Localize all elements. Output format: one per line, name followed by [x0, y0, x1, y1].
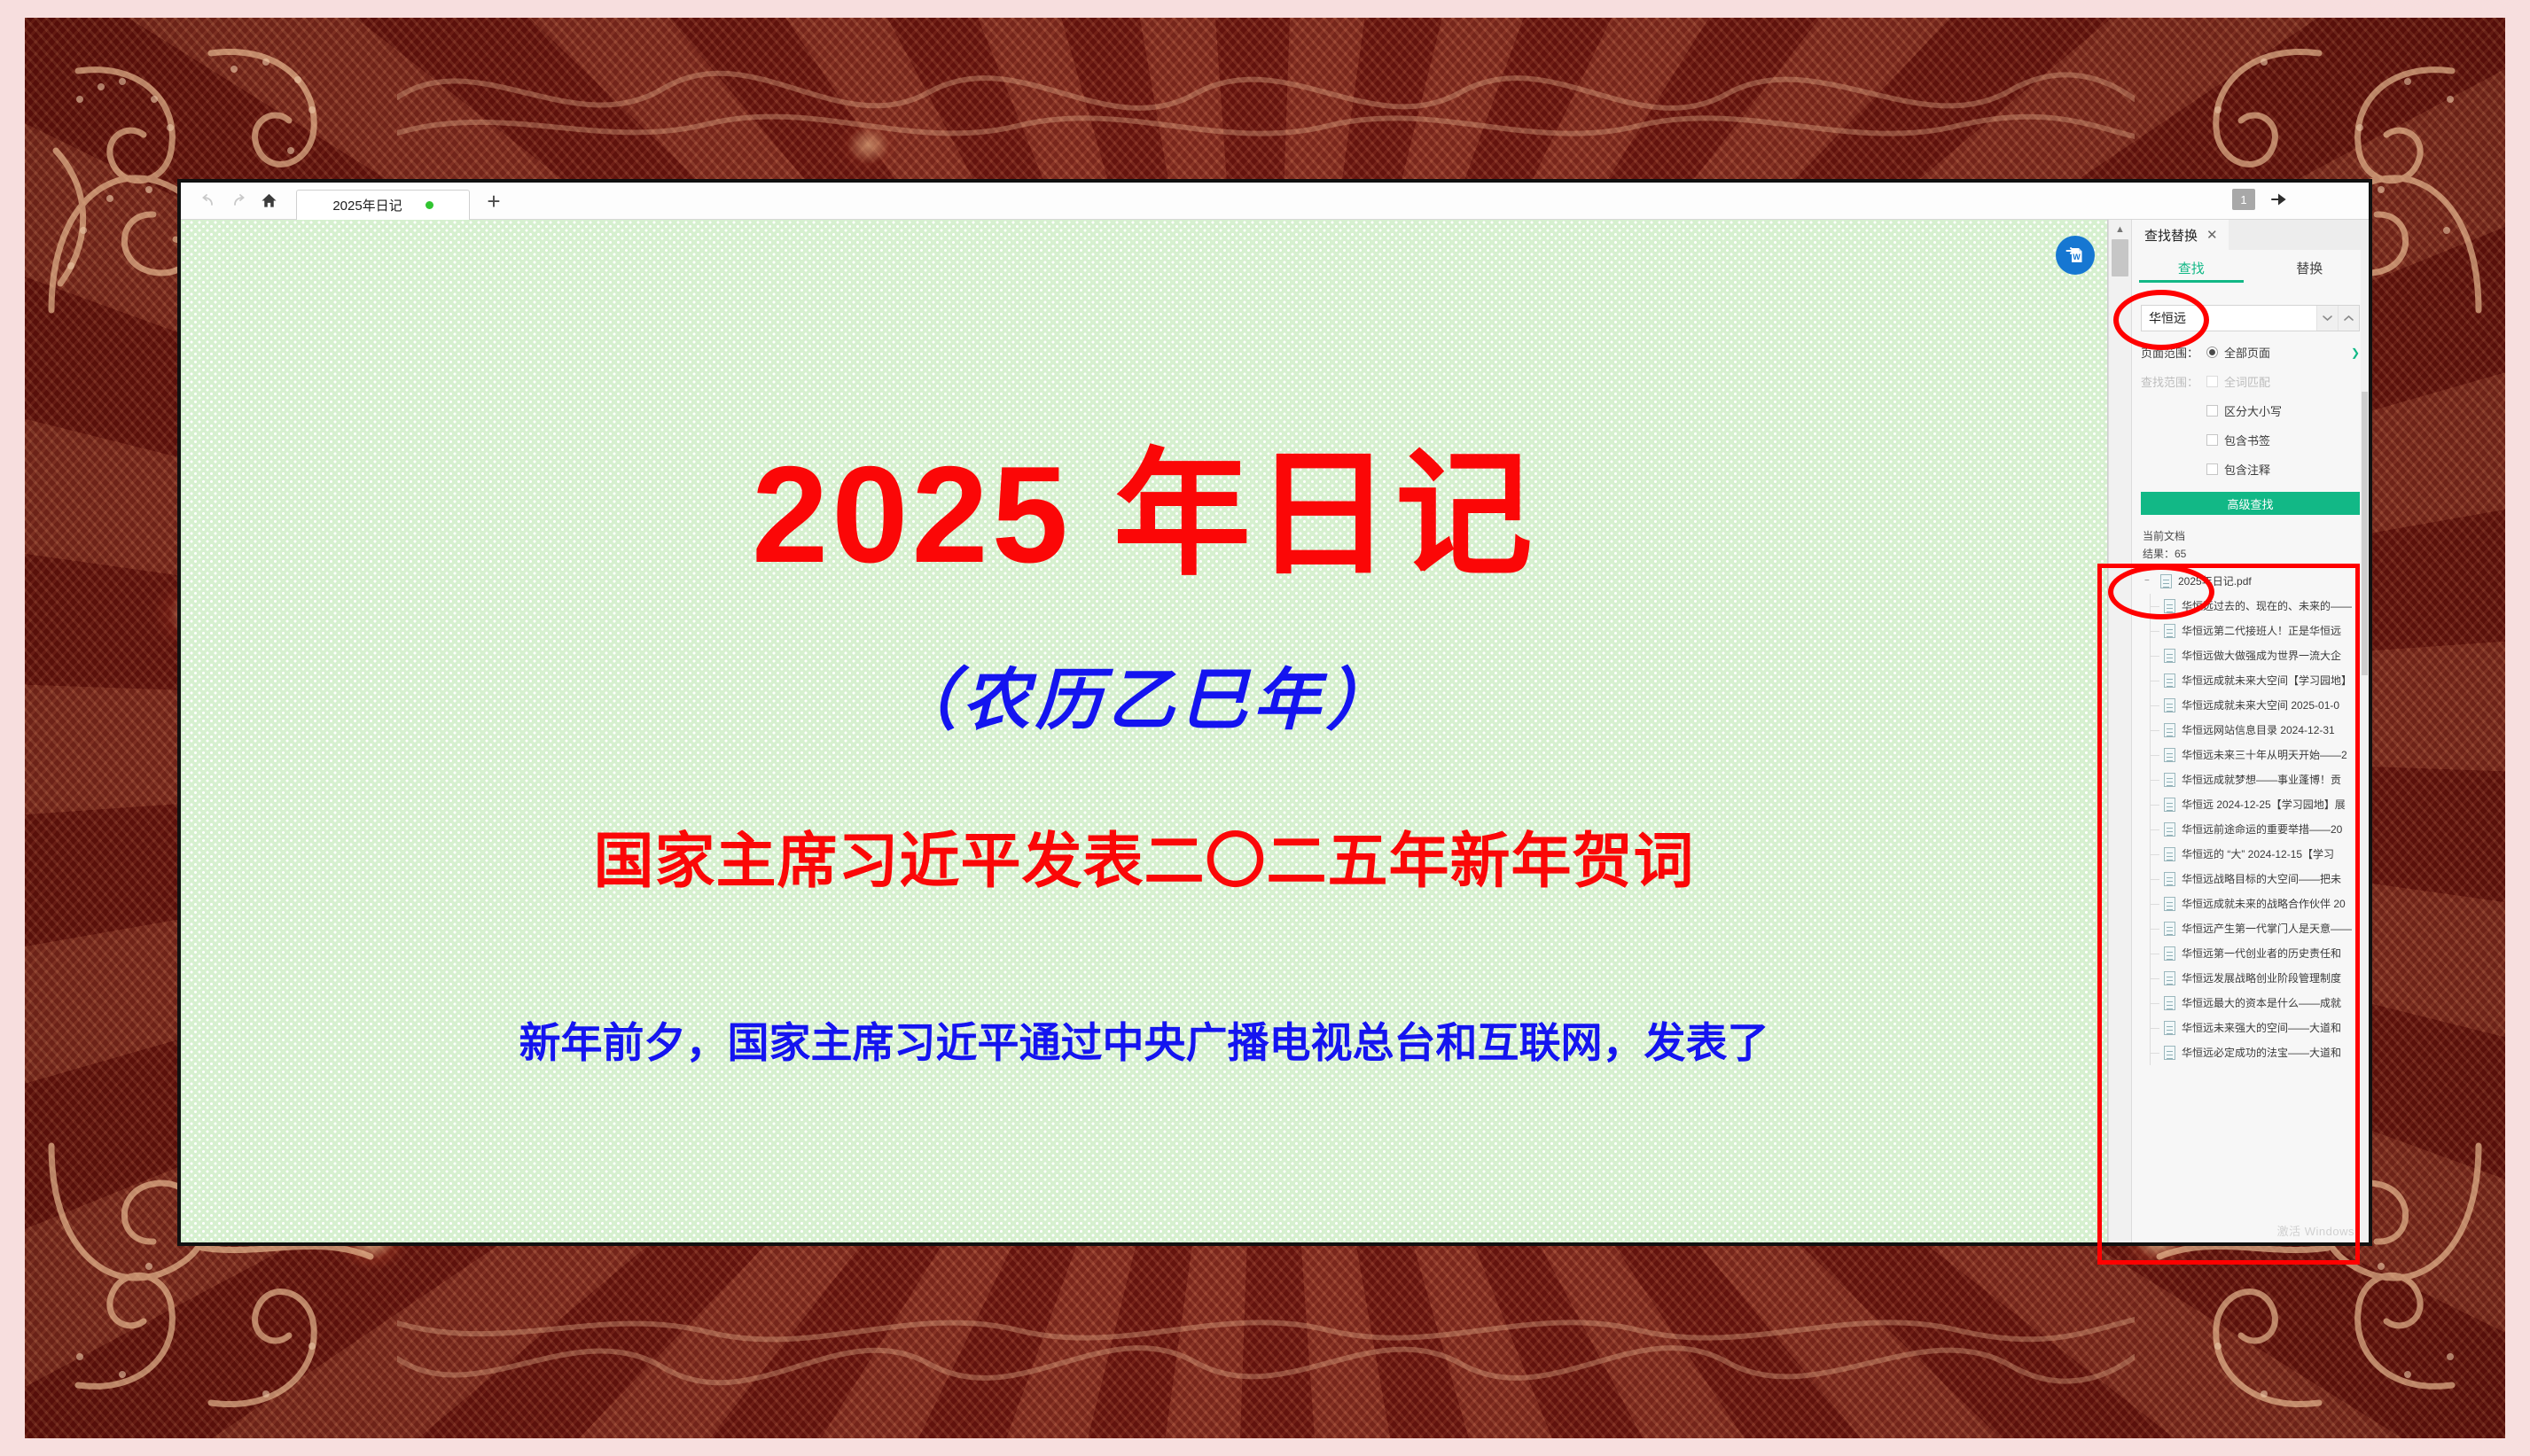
result-item[interactable]: 华恒远前途命运的重要举措——20	[2144, 817, 2369, 842]
result-item[interactable]: 华恒远产生第一代掌门人是天意——	[2144, 916, 2369, 941]
result-item[interactable]: 华恒远最大的资本是什么——成就	[2144, 991, 2369, 1016]
application-window-frame: 2025年日记 + 1 W	[177, 179, 2372, 1246]
result-item[interactable]: 华恒远第一代创业者的历史责任和	[2144, 941, 2369, 966]
checkbox-whole-word[interactable]	[2206, 376, 2218, 387]
page-scope-row: 页面范围： 全部页面 ❯	[2141, 344, 2360, 361]
expand-collapse-icon[interactable]: −	[2144, 576, 2154, 586]
find-panel-titlebar: 查找替换 ✕	[2132, 220, 2369, 250]
result-item-label: 华恒远前途命运的重要举措——20	[2182, 821, 2342, 837]
page-scope-label: 页面范围：	[2141, 344, 2206, 361]
result-item-label: 华恒远做大做强成为世界一流大企	[2182, 648, 2341, 663]
checkbox-include-bookmarks[interactable]	[2206, 434, 2218, 446]
home-icon[interactable]	[254, 188, 284, 214]
edge-flourish-bottom	[397, 1288, 2135, 1438]
advanced-find-button[interactable]: 高级查找	[2141, 492, 2360, 515]
document-icon	[2164, 723, 2175, 737]
pdf-reader-window: 2025年日记 + 1 W	[181, 183, 2369, 1242]
find-panel-scrollbar-thumb[interactable]	[2362, 392, 2368, 675]
search-input[interactable]	[2142, 306, 2316, 331]
document-icon	[2164, 698, 2175, 712]
result-item-label: 华恒远过去的、现在的、未来的——	[2182, 598, 2352, 613]
results-root-label: 2025年日记.pdf	[2178, 573, 2252, 588]
document-icon	[2164, 996, 2175, 1010]
document-icon	[2164, 822, 2175, 837]
document-icon	[2164, 897, 2175, 911]
checkbox-match-case[interactable]	[2206, 405, 2218, 417]
svg-text:W: W	[2073, 253, 2081, 261]
result-item-label: 华恒远成就未来大空间【学习园地】	[2182, 673, 2352, 688]
find-replace-tabs: 查找 替换	[2132, 250, 2369, 285]
find-replace-panel: 查找替换 ✕ 查找 替换	[2131, 220, 2369, 1242]
result-item-label: 华恒远产生第一代掌门人是天意——	[2182, 921, 2352, 936]
document-subtitle: （农历乙巳年）	[181, 667, 2107, 735]
document-icon	[2164, 847, 2175, 861]
results-tree[interactable]: − 2025年日记.pdf 华恒远过去的、现在的、未来的——华恒远第二代接班人！…	[2132, 569, 2369, 1242]
result-item-label: 华恒远未来强大的空间——大道和	[2182, 1020, 2341, 1035]
result-item[interactable]: 华恒远成就梦想——事业蓬博！贡	[2144, 767, 2369, 792]
result-item-label: 华恒远未来三十年从明天开始——2	[2182, 747, 2347, 762]
result-item-label: 华恒远的 “大” 2024-12-15【学习	[2182, 846, 2334, 861]
document-paragraph: 新年前夕，国家主席习近平通过中央广播电视总台和互联网，发表了	[181, 1022, 2107, 1063]
document-icon	[2164, 872, 2175, 886]
edge-flourish-top	[397, 18, 2135, 168]
result-item[interactable]: 华恒远战略目标的大空间——把未	[2144, 867, 2369, 892]
result-item[interactable]: 华恒远成就未来大空间【学习园地】	[2144, 668, 2369, 693]
document-icon	[2164, 599, 2175, 613]
scrollbar-thumb[interactable]	[2112, 239, 2128, 276]
checkbox-label-include-comments: 包含注释	[2224, 461, 2270, 478]
decorative-photo-frame: 2025年日记 + 1 W	[0, 0, 2530, 1456]
result-item-label: 华恒远第二代接班人！正是华恒远	[2182, 623, 2341, 638]
result-item-label: 华恒远成就梦想——事业蓬博！贡	[2182, 772, 2341, 787]
find-panel-tab[interactable]: 查找替换 ✕	[2132, 220, 2229, 250]
result-item[interactable]: 华恒远过去的、现在的、未来的——	[2144, 594, 2369, 619]
find-scope-row-0: 查找范围： 全词匹配	[2141, 373, 2360, 390]
result-item[interactable]: 华恒远成就未来大空间 2025-01-0	[2144, 693, 2369, 718]
checkbox-include-comments[interactable]	[2206, 463, 2218, 475]
document-title: 2025 年日记	[181, 446, 2107, 583]
checkbox-label-match-case: 区分大小写	[2224, 402, 2282, 419]
window-body: W 2025 年日记 （农历乙巳年） 国家主席习近平发表二〇二五年新年贺词 新年…	[181, 220, 2369, 1242]
document-icon	[2164, 773, 2175, 787]
page-vertical-scrollbar[interactable]: ▲	[2108, 220, 2131, 1242]
document-icon	[2164, 1021, 2175, 1035]
collapse-right-icon[interactable]	[2269, 193, 2287, 210]
document-tab[interactable]: 2025年日记	[296, 190, 470, 220]
result-item-label: 华恒远最大的资本是什么——成就	[2182, 995, 2341, 1010]
document-icon	[2164, 971, 2175, 985]
page-number-badge: 1	[2232, 189, 2255, 210]
result-item[interactable]: 华恒远未来三十年从明天开始——2	[2144, 743, 2369, 767]
result-item[interactable]: 华恒远第二代接班人！正是华恒远	[2144, 619, 2369, 643]
result-item-label: 华恒远必定成功的法宝——大道和	[2182, 1045, 2341, 1060]
find-panel-scrollbar[interactable]	[2361, 250, 2369, 1242]
result-item[interactable]: 华恒远必定成功的法宝——大道和	[2144, 1040, 2369, 1065]
checkbox-label-include-bookmarks: 包含书签	[2224, 432, 2270, 448]
document-icon	[2164, 748, 2175, 762]
results-tree-root[interactable]: − 2025年日记.pdf	[2144, 569, 2369, 594]
back-arrow-icon[interactable]	[193, 188, 223, 214]
document-icon	[2160, 574, 2172, 588]
page-scope-value: 全部页面	[2224, 344, 2270, 361]
document-page[interactable]: W 2025 年日记 （农历乙巳年） 国家主席习近平发表二〇二五年新年贺词 新年…	[181, 220, 2108, 1242]
page-scope-radio[interactable]	[2206, 346, 2218, 358]
find-previous-icon[interactable]	[2316, 306, 2338, 331]
checkbox-label-whole-word: 全词匹配	[2224, 373, 2270, 390]
results-scope-label: 当前文档	[2143, 527, 2358, 545]
tab-modified-dot-icon	[426, 201, 433, 209]
chevron-right-icon[interactable]: ❯	[2351, 346, 2360, 359]
toolbar-tabstrip: 2025年日记 + 1	[181, 183, 2369, 220]
result-item[interactable]: 华恒远 2024-12-25【学习园地】展	[2144, 792, 2369, 817]
result-item-label: 华恒远战略目标的大空间——把未	[2182, 871, 2341, 886]
document-tab-label: 2025年日记	[332, 196, 402, 214]
result-item[interactable]: 华恒远未来强大的空间——大道和	[2144, 1016, 2369, 1040]
pdf-to-word-icon[interactable]: W	[2056, 236, 2095, 275]
results-count-label: 结果：65	[2143, 545, 2358, 563]
find-scope-row-1: 区分大小写	[2141, 402, 2360, 419]
result-item-label: 华恒远发展战略创业阶段管理制度	[2182, 970, 2341, 985]
result-item-label: 华恒远 2024-12-25【学习园地】展	[2182, 797, 2346, 812]
find-panel-title: 查找替换	[2144, 226, 2198, 245]
find-scope-row-2: 包含书签	[2141, 432, 2360, 448]
tab-find[interactable]: 查找	[2132, 250, 2251, 285]
result-item[interactable]: 华恒远发展战略创业阶段管理制度	[2144, 966, 2369, 991]
find-scope-label: 查找范围：	[2141, 373, 2206, 390]
result-item-label: 华恒远第一代创业者的历史责任和	[2182, 946, 2341, 961]
find-scope-row-3: 包含注释	[2141, 461, 2360, 478]
result-item-label: 华恒远网站信息目录 2024-12-31	[2182, 722, 2335, 737]
document-icon	[2164, 649, 2175, 663]
find-input-row	[2141, 305, 2360, 331]
result-item[interactable]: 华恒远网站信息目录 2024-12-31	[2144, 718, 2369, 743]
new-tab-button[interactable]: +	[480, 188, 507, 214]
forward-arrow-icon[interactable]	[223, 188, 254, 214]
result-item-label: 华恒远成就未来大空间 2025-01-0	[2182, 697, 2339, 712]
result-item[interactable]: 华恒远做大做强成为世界一流大企	[2144, 643, 2369, 668]
close-icon[interactable]: ✕	[2206, 227, 2218, 243]
result-item-label: 华恒远成就未来的战略合作伙伴 20	[2182, 896, 2346, 911]
scroll-up-icon[interactable]: ▲	[2109, 220, 2131, 239]
windows-activation-watermark: 激活 Windows	[2277, 1222, 2354, 1239]
tab-replace[interactable]: 替换	[2251, 250, 2370, 285]
document-headline: 国家主席习近平发表二〇二五年新年贺词	[181, 831, 2107, 892]
document-icon	[2164, 946, 2175, 961]
document-icon	[2164, 922, 2175, 936]
result-item[interactable]: 华恒远的 “大” 2024-12-15【学习	[2144, 842, 2369, 867]
document-icon	[2164, 1046, 2175, 1060]
document-icon	[2164, 673, 2175, 688]
results-header: 当前文档 结果：65	[2143, 527, 2358, 564]
document-icon	[2164, 798, 2175, 812]
document-icon	[2164, 624, 2175, 638]
result-item[interactable]: 华恒远成就未来的战略合作伙伴 20	[2144, 892, 2369, 916]
find-next-icon[interactable]	[2338, 306, 2359, 331]
